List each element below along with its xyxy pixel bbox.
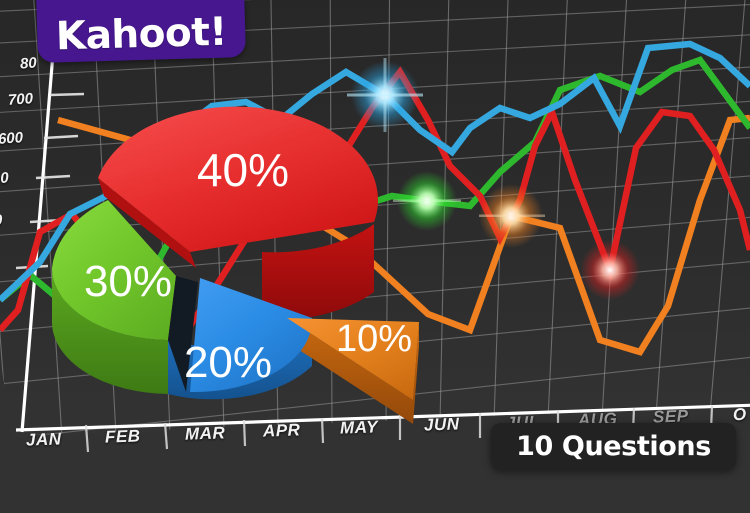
kahoot-wordmark: Kahoot! — [37, 12, 246, 57]
question-count-label: 10 Questions — [516, 431, 711, 462]
x-tick-label-mar: MAR — [185, 423, 226, 444]
y-tick-label-700: 700 — [7, 90, 33, 109]
kahoot-quiz-cover-image: 40% 30% 20% 10% 80 700 600 00 0 JAN FEB … — [0, 0, 750, 513]
x-tick-label-jun: JUN — [424, 414, 460, 435]
y-tick-label-800: 80 — [19, 54, 37, 72]
y-tick-label-600: 600 — [0, 129, 24, 148]
pie-label-10: 10% — [336, 318, 412, 360]
x-tick-label-apr: APR — [263, 420, 301, 441]
pie-label-20: 20% — [184, 338, 272, 387]
pie-label-40: 40% — [197, 144, 289, 196]
y-tick-label-500: 00 — [0, 169, 9, 187]
pie-slice-red-side-main — [262, 224, 374, 320]
pie-label-30: 30% — [84, 257, 172, 306]
x-tick-label-oct: O — [733, 405, 747, 425]
x-tick-label-may: MAY — [340, 417, 379, 438]
x-tick-label-jan: JAN — [26, 429, 62, 450]
question-count-badge: 10 Questions — [491, 423, 736, 470]
x-tick-label-feb: FEB — [105, 426, 141, 447]
kahoot-logo-badge: Kahoot! — [36, 0, 246, 63]
